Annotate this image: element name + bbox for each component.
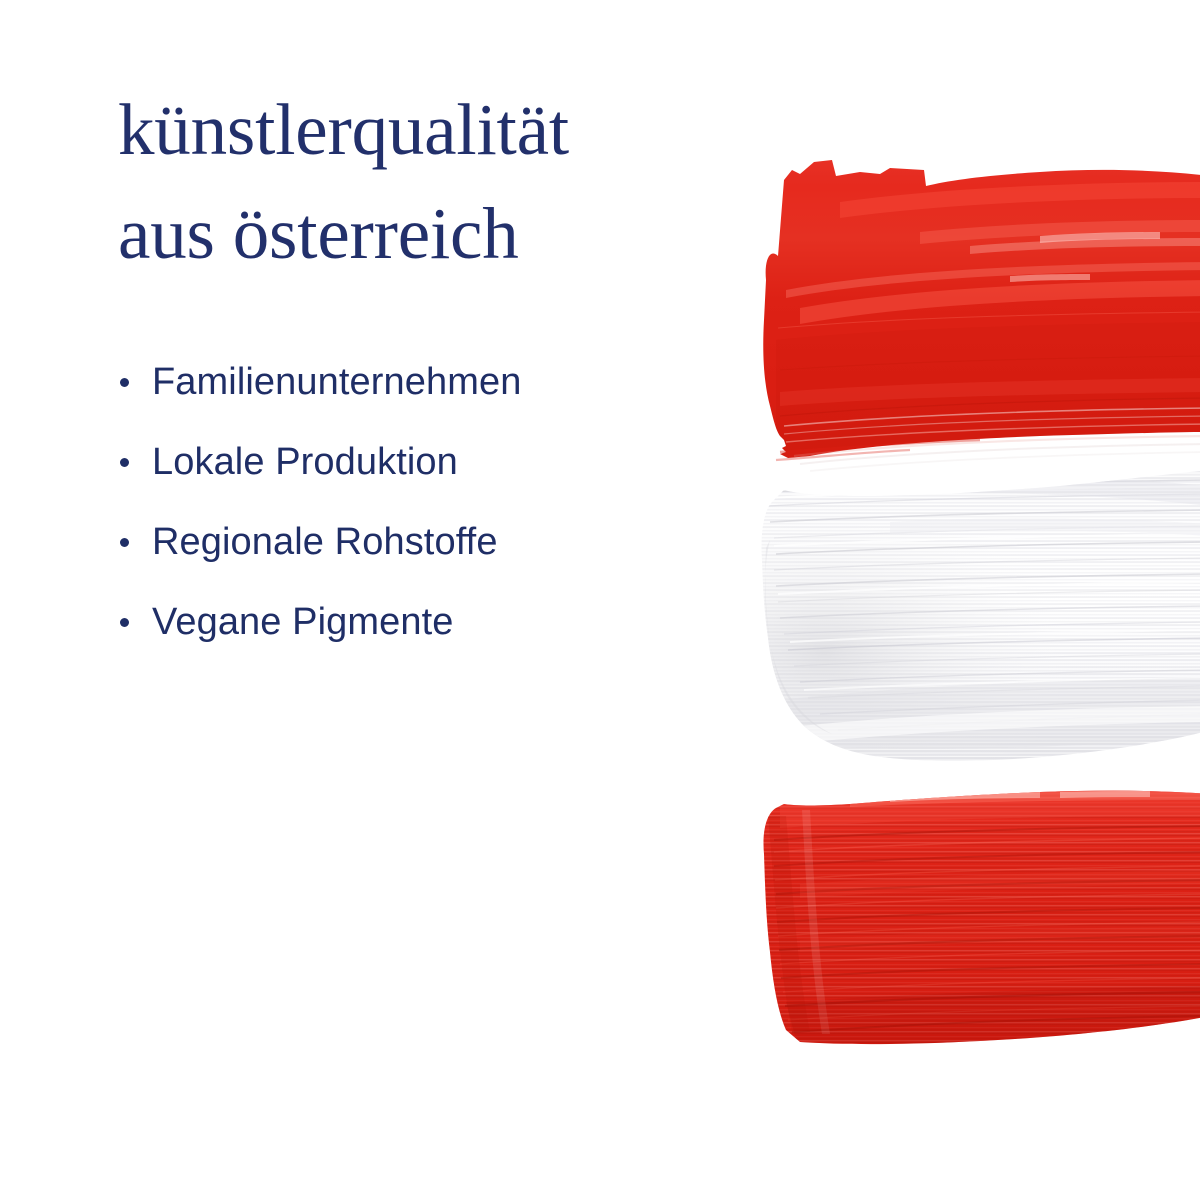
bullet-dot-icon xyxy=(120,618,129,627)
paint-strokes-svg xyxy=(740,140,1200,1080)
page-title: künstlerqualität aus österreich xyxy=(118,78,718,285)
red-stroke-bottom xyxy=(740,780,1200,1060)
feature-label: Vegane Pigmente xyxy=(152,601,454,643)
austrian-flag-paint-strokes: Austrian flag rendered as three horizont… xyxy=(740,140,1200,1080)
poster-canvas: künstlerqualität aus österreich Familien… xyxy=(0,0,1200,1200)
red-stroke-top xyxy=(740,140,1200,471)
feature-list: Familienunternehmen Lokale Produktion Re… xyxy=(118,363,718,641)
feature-label: Regionale Rohstoffe xyxy=(152,521,498,563)
feature-label: Familienunternehmen xyxy=(152,361,521,403)
list-item: Familienunternehmen xyxy=(118,363,718,401)
list-item: Regionale Rohstoffe xyxy=(118,523,718,561)
bullet-dot-icon xyxy=(120,458,129,467)
bullet-dot-icon xyxy=(120,538,129,547)
text-column: künstlerqualität aus österreich Familien… xyxy=(118,78,718,641)
feature-label: Lokale Produktion xyxy=(152,441,458,483)
bullet-dot-icon xyxy=(120,378,129,387)
list-item: Lokale Produktion xyxy=(118,443,718,481)
white-stroke-middle xyxy=(740,460,1200,770)
list-item: Vegane Pigmente xyxy=(118,603,718,641)
